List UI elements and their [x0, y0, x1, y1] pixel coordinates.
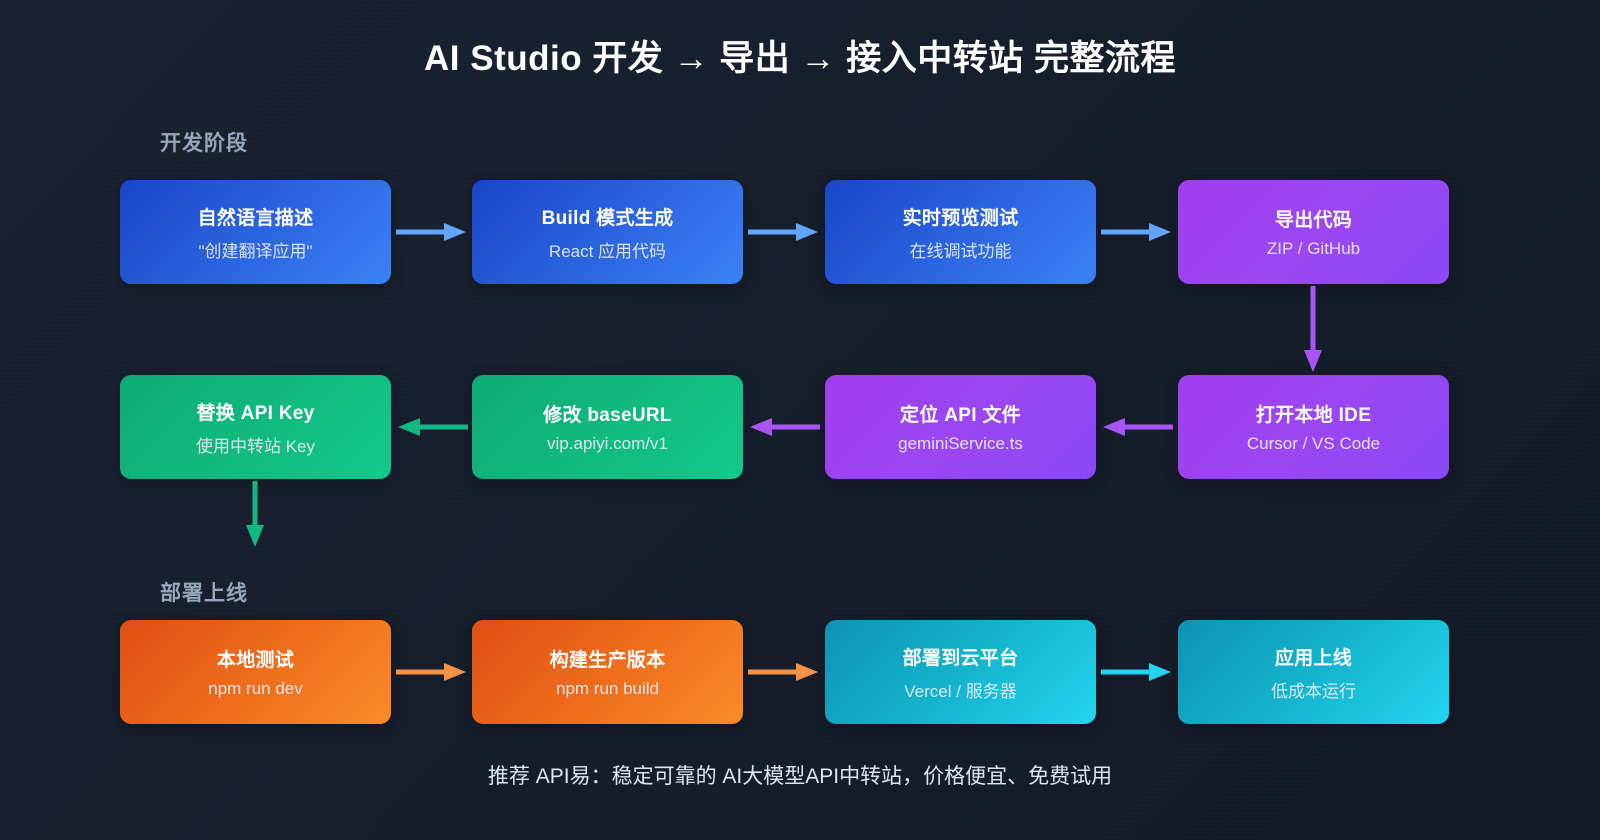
- node-replace-api-key[interactable]: 替换 API Key 使用中转站 Key: [120, 375, 391, 479]
- node-title: 构建生产版本: [550, 645, 666, 672]
- section-label-deployment: 部署上线: [160, 577, 248, 607]
- node-subtitle: "创建翻译应用": [198, 237, 312, 262]
- node-natural-language[interactable]: 自然语言描述 "创建翻译应用": [120, 180, 391, 284]
- node-subtitle: Cursor / VS Code: [1247, 434, 1380, 454]
- node-title: 实时预览测试: [903, 203, 1019, 230]
- arrow-right-icon: [396, 221, 468, 243]
- node-title: 本地测试: [217, 645, 294, 672]
- node-title: 部署到云平台: [903, 643, 1019, 670]
- node-subtitle: React 应用代码: [549, 237, 666, 262]
- node-live-preview[interactable]: 实时预览测试 在线调试功能: [825, 180, 1096, 284]
- arrow-right-icon: [748, 221, 820, 243]
- node-title: 导出代码: [1275, 205, 1352, 232]
- diagram-canvas: AI Studio 开发 → 导出 → 接入中转站 完整流程 开发阶段 部署上线…: [0, 0, 1600, 840]
- node-build-production[interactable]: 构建生产版本 npm run build: [472, 620, 743, 724]
- node-deploy-cloud[interactable]: 部署到云平台 Vercel / 服务器: [825, 620, 1096, 724]
- node-subtitle: npm run build: [556, 679, 659, 699]
- node-title: 替换 API Key: [196, 398, 314, 425]
- arrow-left-icon: [1101, 416, 1173, 438]
- node-subtitle: vip.apiyi.com/v1: [547, 434, 668, 454]
- node-modify-baseurl[interactable]: 修改 baseURL vip.apiyi.com/v1: [472, 375, 743, 479]
- arrow-right-icon: [748, 661, 820, 683]
- page-title: AI Studio 开发 → 导出 → 接入中转站 完整流程: [0, 30, 1600, 81]
- node-title: 定位 API 文件: [900, 400, 1021, 427]
- node-title: Build 模式生成: [542, 203, 674, 230]
- footer-note: 推荐 API易：稳定可靠的 AI大模型API中转站，价格便宜、免费试用: [0, 760, 1600, 790]
- node-build-mode[interactable]: Build 模式生成 React 应用代码: [472, 180, 743, 284]
- arrow-down-icon: [1302, 286, 1324, 374]
- node-subtitle: 在线调试功能: [910, 237, 1012, 262]
- node-export-code[interactable]: 导出代码 ZIP / GitHub: [1178, 180, 1449, 284]
- node-app-live[interactable]: 应用上线 低成本运行: [1178, 620, 1449, 724]
- node-title: 修改 baseURL: [543, 400, 672, 427]
- node-title: 应用上线: [1275, 643, 1352, 670]
- node-locate-api-file[interactable]: 定位 API 文件 geminiService.ts: [825, 375, 1096, 479]
- node-subtitle: ZIP / GitHub: [1267, 239, 1360, 259]
- arrow-left-icon: [396, 416, 468, 438]
- node-subtitle: 低成本运行: [1271, 677, 1356, 702]
- arrow-right-icon: [1101, 221, 1173, 243]
- section-label-development: 开发阶段: [160, 127, 248, 157]
- node-title: 打开本地 IDE: [1256, 400, 1371, 427]
- node-subtitle: npm run dev: [208, 679, 303, 699]
- arrow-right-icon: [396, 661, 468, 683]
- arrow-right-icon: [1101, 661, 1173, 683]
- node-local-test[interactable]: 本地测试 npm run dev: [120, 620, 391, 724]
- node-subtitle: 使用中转站 Key: [196, 432, 315, 457]
- node-open-local-ide[interactable]: 打开本地 IDE Cursor / VS Code: [1178, 375, 1449, 479]
- node-subtitle: Vercel / 服务器: [904, 677, 1016, 702]
- arrow-left-icon: [748, 416, 820, 438]
- node-subtitle: geminiService.ts: [898, 434, 1023, 454]
- arrow-down-icon: [244, 481, 266, 549]
- node-title: 自然语言描述: [198, 203, 314, 230]
